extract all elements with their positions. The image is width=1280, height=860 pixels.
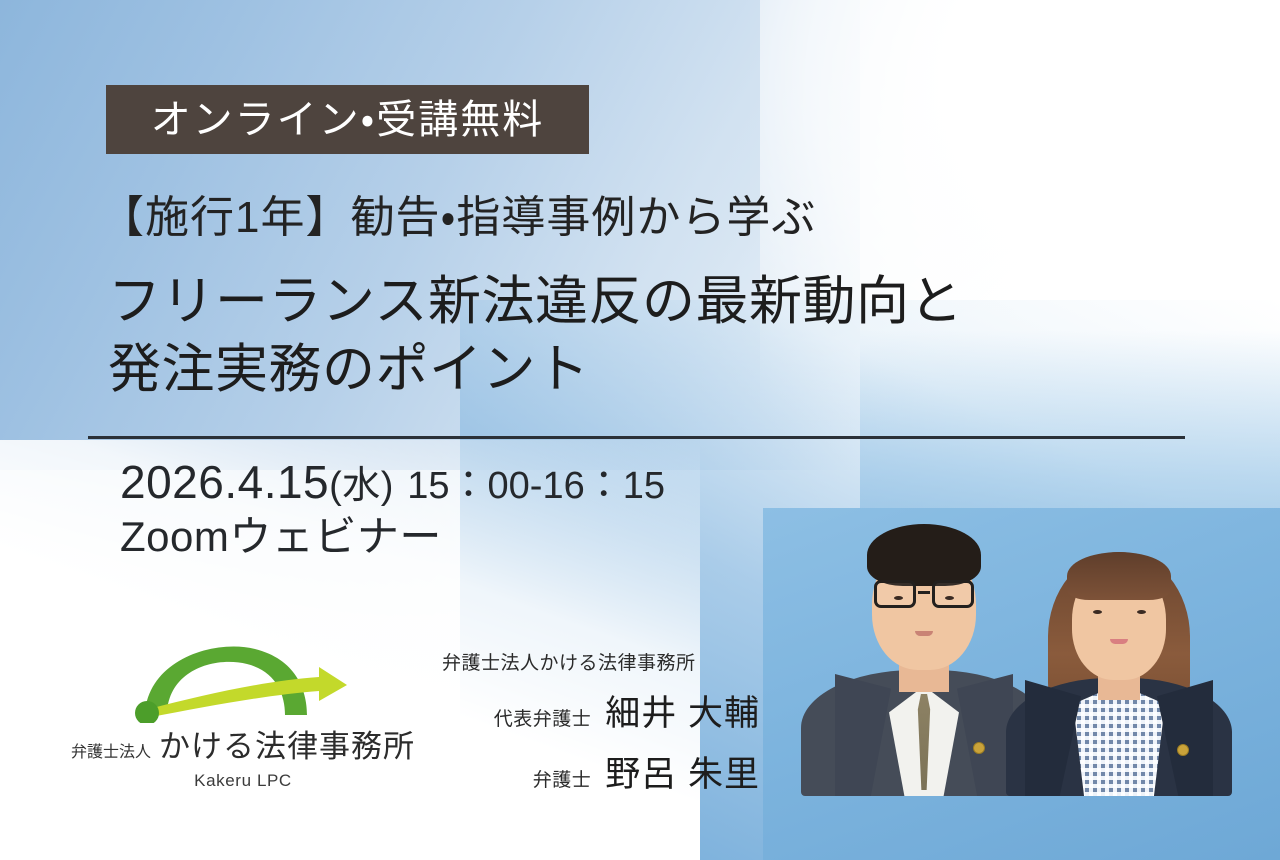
schedule-date-line: 2026.4.15(水) 15：00-16：15 xyxy=(120,455,665,509)
free-online-badge: オンライン・受講無料 xyxy=(106,85,589,154)
seminar-title-line-2: 発注実務のポイント xyxy=(108,336,963,404)
seminar-subtitle: 【施行1年】勧告・指導事例から学ぶ xyxy=(100,192,816,243)
hair xyxy=(867,524,981,586)
logo-latin-name: Kakeru LPC xyxy=(78,771,408,791)
attorney-pin-icon xyxy=(1177,744,1189,756)
schedule-platform: Zoomウェビナー xyxy=(120,511,665,564)
schedule-day-of-week: (水) xyxy=(329,465,394,507)
eye-right xyxy=(945,596,954,600)
eye-right xyxy=(1137,610,1146,614)
glasses-icon xyxy=(872,580,976,610)
schedule-block: 2026.4.15(水) 15：00-16：15 Zoomウェビナー xyxy=(120,455,665,564)
speaker-role: 代表弁護士 xyxy=(494,704,592,731)
seminar-title-line-1: フリーランス新法違反の最新動向と xyxy=(108,268,963,336)
speaker-photo-panel xyxy=(763,508,1280,860)
mouth xyxy=(915,631,933,636)
logo-wordmark: 弁護士法人 かける法律事務所 xyxy=(78,721,408,766)
speaker-firm-name: 弁護士法人かける法律事務所 xyxy=(442,648,760,675)
glasses-bridge xyxy=(918,591,930,594)
webinar-banner: オンライン・受講無料 【施行1年】勧告・指導事例から学ぶ フリーランス新法違反の… xyxy=(0,0,1280,860)
hair-front xyxy=(1067,552,1171,600)
speaker-photo-stage xyxy=(763,508,1280,796)
speaker-name: 野呂 朱里 xyxy=(605,746,760,797)
speaker-role: 弁護士 xyxy=(533,765,592,792)
logo-firm-name: かける法律事務所 xyxy=(159,721,415,766)
glasses-lens-right xyxy=(932,580,974,608)
eye-left xyxy=(1093,610,1102,614)
speaker-name: 細井 大輔 xyxy=(605,685,760,736)
horizontal-divider xyxy=(88,436,1185,439)
speaker-row: 代表弁護士 細井 大輔 xyxy=(430,685,760,736)
seminar-title: フリーランス新法違反の最新動向と 発注実務のポイント xyxy=(108,268,963,404)
attorney-pin-icon xyxy=(973,742,985,754)
schedule-time: 15：00-16：15 xyxy=(407,465,665,507)
speaker-block: 弁護士法人かける法律事務所 代表弁護士 細井 大輔 弁護士 野呂 朱里 xyxy=(430,648,760,797)
check-pattern-blouse xyxy=(1073,684,1165,796)
firm-logo: 弁護士法人 かける法律事務所 Kakeru LPC xyxy=(78,637,408,797)
kakeru-arch-logo-icon xyxy=(123,637,363,723)
logo-prefix: 弁護士法人 xyxy=(71,738,151,762)
schedule-date: 2026.4.15 xyxy=(120,456,329,508)
badge-label: オンライン・受講無料 xyxy=(151,100,545,140)
eye-left xyxy=(894,596,903,600)
speaker-photo-female xyxy=(1001,528,1237,796)
speaker-row: 弁護士 野呂 朱里 xyxy=(430,746,760,797)
mouth xyxy=(1110,639,1128,644)
glasses-lens-left xyxy=(874,580,916,608)
